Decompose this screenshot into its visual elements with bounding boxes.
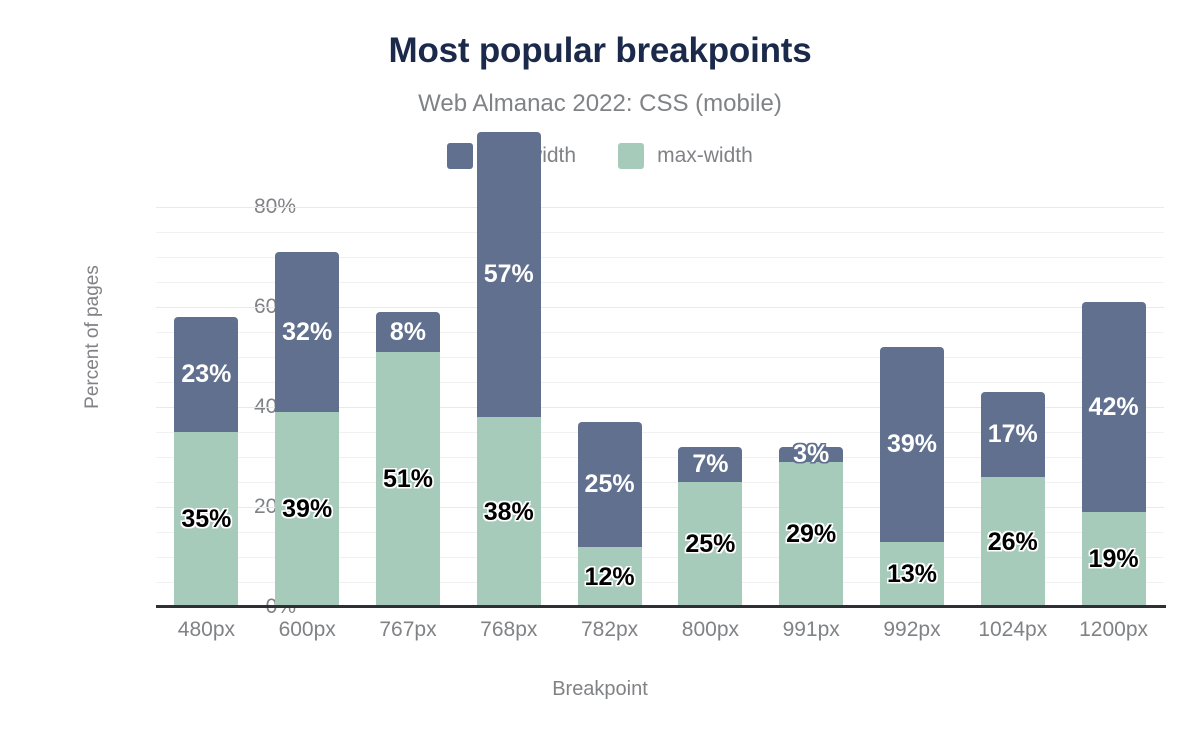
bar-group: 13%39% (862, 207, 963, 607)
bar-segment-min-width[interactable]: 3% (779, 447, 843, 462)
bar-value-label: 26% (988, 530, 1038, 555)
bar-segment-min-width[interactable]: 32% (275, 252, 339, 412)
bar-value-label: 19% (1089, 547, 1139, 572)
bar-group: 25%7% (660, 207, 761, 607)
y-axis-title: Percent of pages (82, 237, 104, 437)
bar-segment-min-width[interactable]: 25% (578, 422, 642, 547)
bar-value-label: 7% (692, 452, 728, 477)
bar-group: 12%25% (559, 207, 660, 607)
bar-value-label: 39% (887, 432, 937, 457)
bar-stack[interactable]: 38%57% (477, 132, 541, 607)
x-tick-label: 800px (660, 617, 761, 643)
bar-segment-max-width[interactable]: 39% (275, 412, 339, 607)
bar-value-label: 35% (181, 507, 231, 532)
bar-segment-max-width[interactable]: 35% (174, 432, 238, 607)
bar-value-label: 51% (383, 467, 433, 492)
legend-label-max-width: max-width (657, 143, 753, 169)
plot-area: 35%23%39%32%51%8%38%57%12%25%25%7%29%3%1… (156, 207, 1164, 607)
x-tick-label: 991px (761, 617, 862, 643)
bar-group: 29%3% (761, 207, 862, 607)
bar-value-label: 13% (887, 562, 937, 587)
bar-segment-min-width[interactable]: 39% (880, 347, 944, 542)
bar-segment-max-width[interactable]: 26% (981, 477, 1045, 607)
x-tick-label: 992px (862, 617, 963, 643)
x-tick-label: 782px (559, 617, 660, 643)
bar-segment-min-width[interactable]: 7% (678, 447, 742, 482)
chart-container: Most popular breakpoints Web Almanac 202… (0, 0, 1200, 742)
bar-segment-max-width[interactable]: 38% (477, 417, 541, 607)
bar-segment-max-width[interactable]: 25% (678, 482, 742, 607)
x-tick-label: 767px (358, 617, 459, 643)
bar-value-label: 39% (282, 497, 332, 522)
bar-stack[interactable]: 19%42% (1082, 302, 1146, 607)
bar-value-label: 3% (793, 442, 829, 467)
bar-value-label: 25% (585, 472, 635, 497)
bar-segment-min-width[interactable]: 42% (1082, 302, 1146, 512)
bar-value-label: 42% (1089, 395, 1139, 420)
bar-segment-max-width[interactable]: 13% (880, 542, 944, 607)
bar-value-label: 25% (685, 532, 735, 557)
bar-segment-max-width[interactable]: 19% (1082, 512, 1146, 607)
bar-segment-min-width[interactable]: 57% (477, 132, 541, 417)
bar-stack[interactable]: 12%25% (578, 422, 642, 607)
bar-segment-max-width[interactable]: 51% (376, 352, 440, 607)
legend-swatch-max-width (618, 143, 644, 169)
bar-group: 38%57% (458, 207, 559, 607)
bar-group: 51%8% (358, 207, 459, 607)
x-tick-label: 1200px (1063, 617, 1164, 643)
x-axis-title: Breakpoint (0, 678, 1200, 701)
bar-group: 35%23% (156, 207, 257, 607)
bar-value-label: 23% (181, 362, 231, 387)
x-tick-label: 600px (257, 617, 358, 643)
bar-value-label: 38% (484, 500, 534, 525)
bar-value-label: 32% (282, 320, 332, 345)
bar-stack[interactable]: 29%3% (779, 447, 843, 607)
legend-item-max-width[interactable]: max-width (618, 143, 753, 169)
bar-segment-max-width[interactable]: 29% (779, 462, 843, 607)
x-tick-label: 768px (458, 617, 559, 643)
bar-value-label: 12% (585, 565, 635, 590)
bar-segment-min-width[interactable]: 23% (174, 317, 238, 432)
bar-group: 26%17% (962, 207, 1063, 607)
x-tick-label: 480px (156, 617, 257, 643)
bar-value-label: 17% (988, 422, 1038, 447)
bar-segment-min-width[interactable]: 17% (981, 392, 1045, 477)
x-tick-label: 1024px (962, 617, 1063, 643)
chart-legend: min-width max-width (0, 143, 1200, 169)
bar-group: 39%32% (257, 207, 358, 607)
legend-swatch-min-width (447, 143, 473, 169)
chart-subtitle: Web Almanac 2022: CSS (mobile) (0, 89, 1200, 119)
bar-segment-min-width[interactable]: 8% (376, 312, 440, 352)
bar-segment-max-width[interactable]: 12% (578, 547, 642, 607)
bar-stack[interactable]: 51%8% (376, 312, 440, 607)
bar-stack[interactable]: 13%39% (880, 347, 944, 607)
bar-stack[interactable]: 25%7% (678, 447, 742, 607)
x-axis-line (156, 605, 1166, 608)
bar-stack[interactable]: 35%23% (174, 317, 238, 607)
bar-value-label: 29% (786, 522, 836, 547)
bar-group: 19%42% (1063, 207, 1164, 607)
bar-value-label: 57% (484, 262, 534, 287)
bar-value-label: 8% (390, 320, 426, 345)
chart-title: Most popular breakpoints (0, 30, 1200, 72)
bar-stack[interactable]: 26%17% (981, 392, 1045, 607)
bar-stack[interactable]: 39%32% (275, 252, 339, 607)
